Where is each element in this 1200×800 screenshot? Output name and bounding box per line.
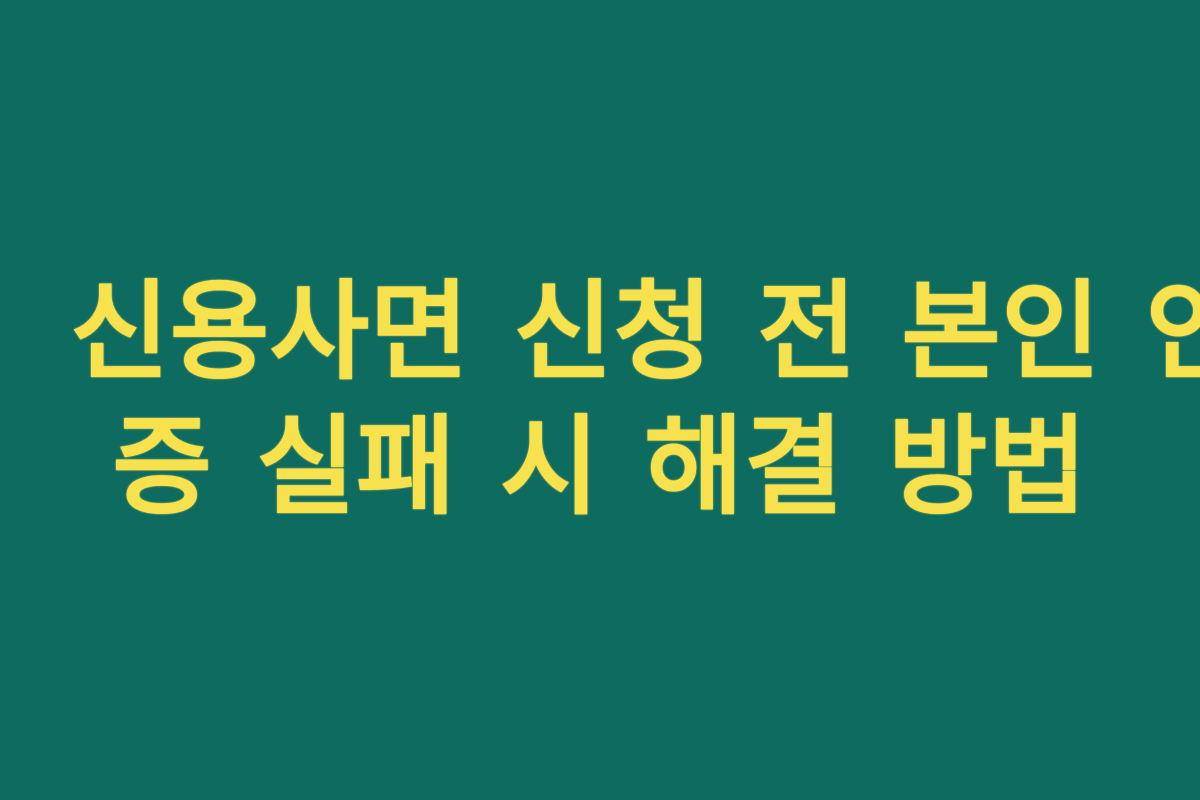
headline-line-1: 신용사면 신청 전 본인 인	[70, 265, 1130, 400]
headline-line-2: 증 실패 시 해결 방법	[70, 400, 1130, 535]
headline-text: 신용사면 신청 전 본인 인 증 실패 시 해결 방법	[70, 265, 1130, 535]
thumbnail-card: 신용사면 신청 전 본인 인 증 실패 시 해결 방법	[0, 0, 1200, 800]
